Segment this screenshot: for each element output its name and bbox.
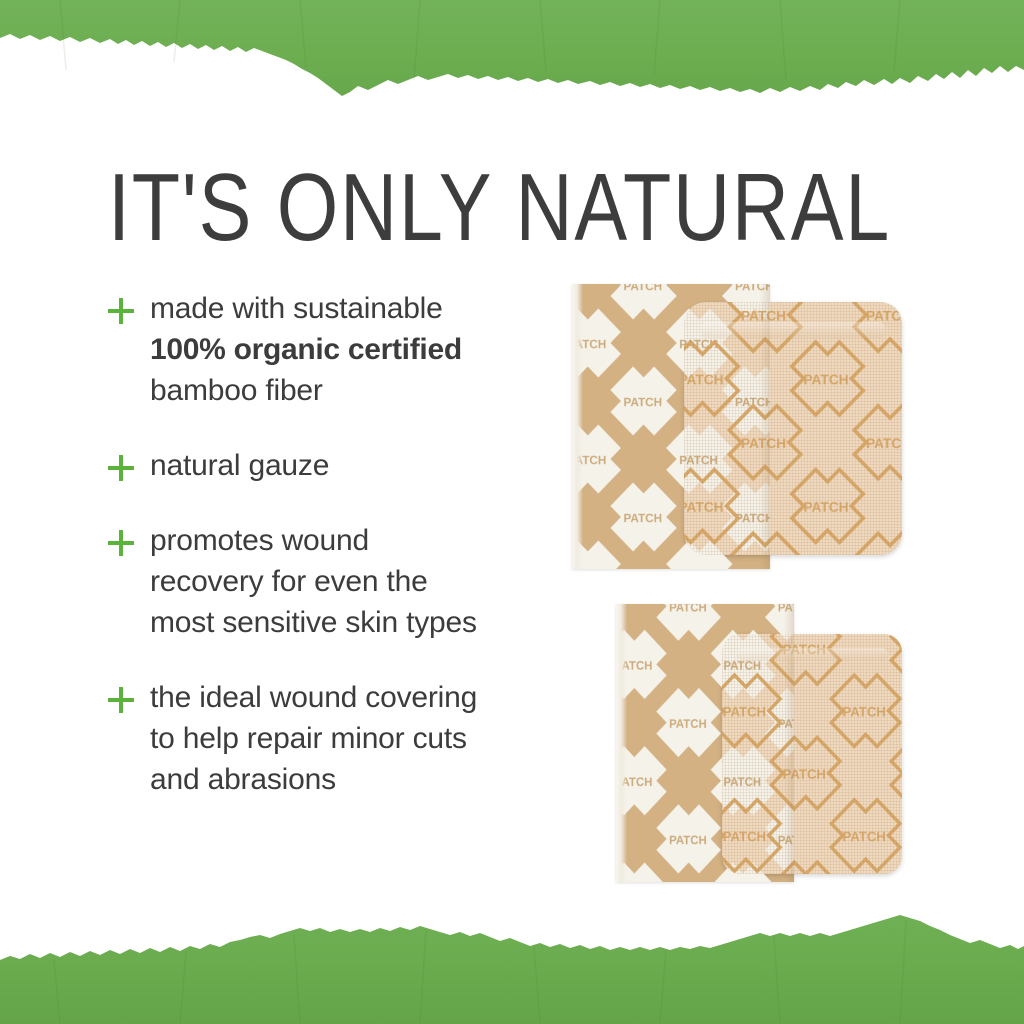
list-item: the ideal wound covering to help repair …: [104, 677, 554, 800]
plus-icon: [104, 677, 150, 717]
bandage-product-large: [572, 284, 902, 576]
list-item-line: made with sustainable: [150, 288, 554, 329]
torn-green-paper-top: [0, 0, 1024, 120]
plus-icon: [104, 288, 150, 328]
adhesive-patch-large: [684, 302, 902, 555]
list-item-text: the ideal wound covering to help repair …: [150, 677, 554, 800]
bandage-product-small: [616, 604, 902, 882]
list-item-line: promotes wound: [150, 520, 554, 561]
feature-list: made with sustainable 100% organic certi…: [104, 288, 554, 828]
list-item: made with sustainable 100% organic certi…: [104, 288, 554, 411]
gauze-weave-texture: [684, 302, 902, 555]
list-item: promotes wound recovery for even the mos…: [104, 520, 554, 643]
list-item-line: most sensitive skin types: [150, 602, 554, 643]
list-item-line: bamboo fiber: [150, 370, 554, 411]
list-item-text: promotes wound recovery for even the mos…: [150, 520, 554, 643]
list-item-line: recovery for even the: [150, 561, 554, 602]
list-item-line: to help repair minor cuts: [150, 718, 554, 759]
adhesive-patch-small: [722, 634, 902, 874]
page-title: IT'S ONLY NATURAL: [108, 158, 891, 258]
list-item-line: natural gauze: [150, 445, 554, 486]
list-item-line: and abrasions: [150, 759, 554, 800]
list-item: natural gauze: [104, 445, 554, 486]
list-item-text: natural gauze: [150, 445, 554, 486]
list-item-line-bold: 100% organic certified: [150, 329, 554, 370]
gauze-weave-texture: [722, 634, 902, 874]
plus-icon: [104, 520, 150, 560]
torn-green-paper-bottom: [0, 904, 1024, 1024]
infographic-canvas: IT'S ONLY NATURAL made with sustainable …: [0, 0, 1024, 1024]
plus-icon: [104, 445, 150, 485]
list-item-line: the ideal wound covering: [150, 677, 554, 718]
list-item-text: made with sustainable 100% organic certi…: [150, 288, 554, 411]
